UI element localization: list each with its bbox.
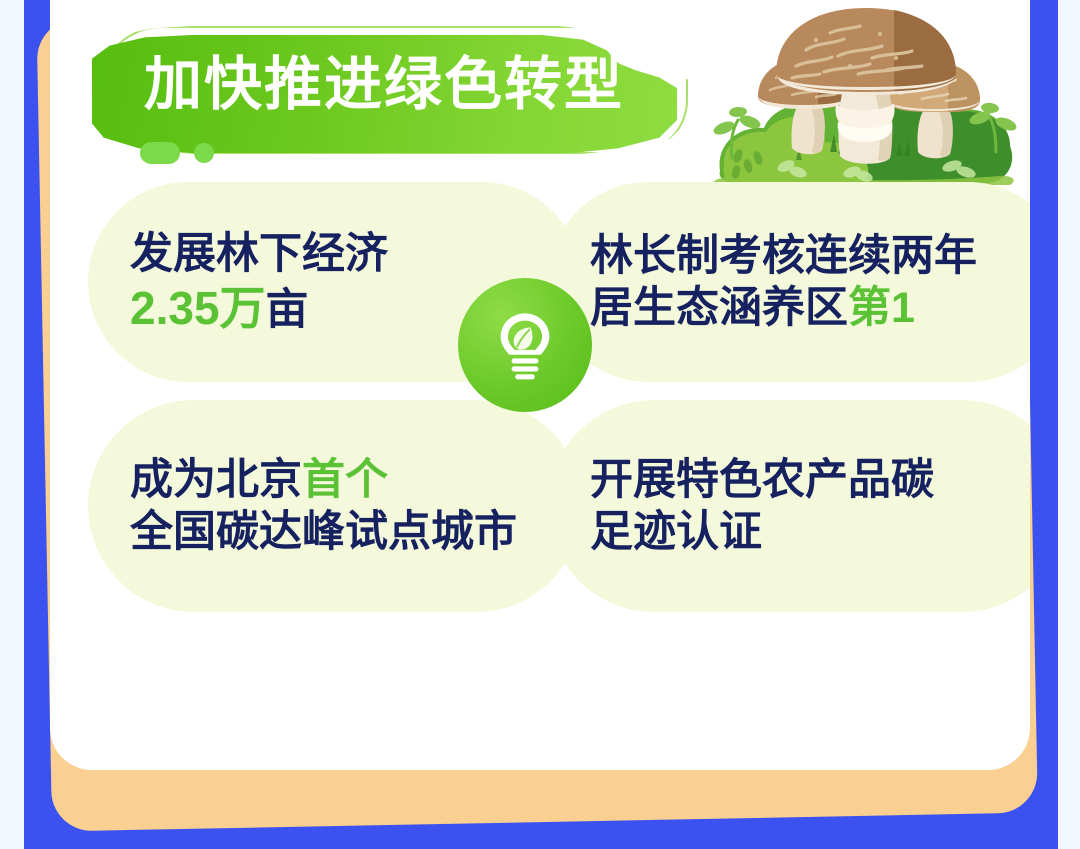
pagination-dots: [140, 142, 214, 164]
dot-inactive[interactable]: [194, 143, 214, 163]
stat-card-carbon-peak-pilot-city: 成为北京首个 全国碳达峰试点城市: [88, 400, 582, 612]
card-text: 成为北京: [130, 456, 302, 504]
card-text: 林长制考核连续两年: [590, 232, 977, 280]
card-text: 足迹认证: [590, 508, 762, 556]
card-text: 开展特色农产品碳: [590, 456, 934, 504]
infographic-stage: 加快推进绿色转型: [0, 0, 1080, 849]
card-text: 发展林下经济: [130, 230, 388, 278]
card-text: 居生态涵养区: [590, 284, 848, 332]
card-line: 全国碳达峰试点城市: [130, 506, 582, 558]
stat-card-forest-chief-assessment: 林长制考核连续两年 居生态涵养区第1: [548, 182, 1030, 382]
card-text: 全国碳达峰试点城市: [130, 508, 517, 556]
card-line: 开展特色农产品碳: [590, 454, 1030, 506]
card-highlight-value: 第1: [848, 284, 915, 332]
card-line: 发展林下经济: [130, 228, 582, 280]
card-line: 居生态涵养区第1: [590, 282, 1030, 334]
card-highlight-value: 2.35万: [130, 282, 266, 334]
card-line: 成为北京首个: [130, 454, 582, 506]
dot-active-pill[interactable]: [140, 142, 180, 164]
main-white-card: 加快推进绿色转型: [50, 0, 1030, 770]
card-text: 亩: [266, 286, 309, 334]
stat-card-agri-carbon-footprint: 开展特色农产品碳 足迹认证: [548, 400, 1030, 612]
lightbulb-leaf-icon: [458, 278, 592, 412]
page-title: 加快推进绿色转型: [144, 56, 624, 114]
card-line: 足迹认证: [590, 506, 1030, 558]
card-line: 林长制考核连续两年: [590, 230, 1030, 282]
card-highlight-value: 首个: [302, 456, 388, 504]
header-badge: 加快推进绿色转型: [92, 26, 692, 161]
